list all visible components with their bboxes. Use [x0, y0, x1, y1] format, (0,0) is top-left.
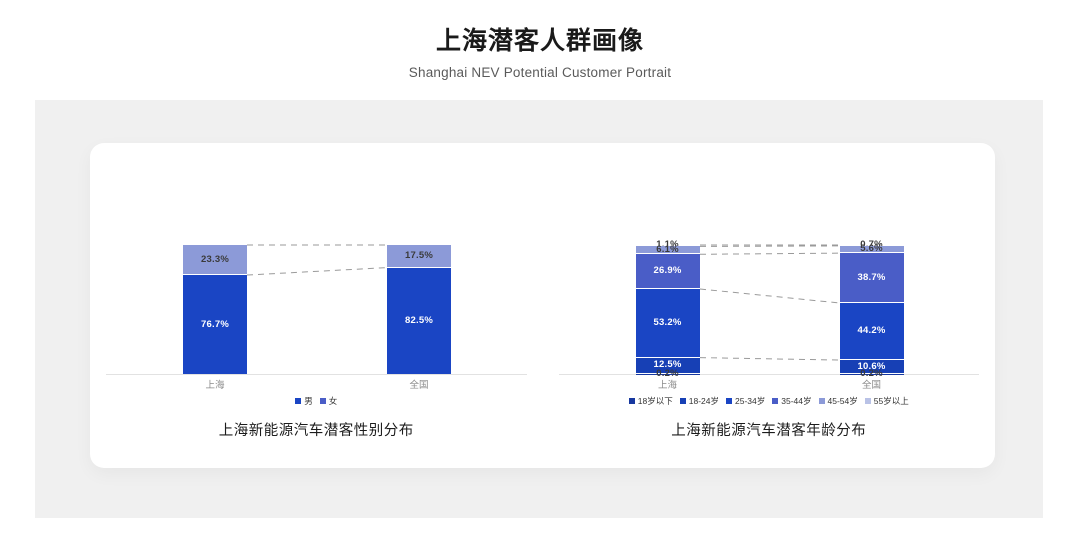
- charts-row: 上海全国23.3%76.7%17.5%82.5%男女上海新能源汽车潜客性别分布上…: [90, 143, 995, 468]
- legend-label: 18岁以下: [638, 395, 673, 407]
- segment-connectors: [90, 143, 543, 375]
- segment-connectors: [543, 143, 996, 375]
- plot-area-gender: 23.3%76.7%17.5%82.5%: [90, 143, 543, 375]
- category-label-上海: 上海: [183, 377, 247, 391]
- bar-age-全国[interactable]: 0.7%5.6%38.7%44.2%10.6%0.2%: [840, 245, 904, 374]
- bar-segment[interactable]: 5.6%: [840, 246, 904, 253]
- legend-label: 女: [329, 395, 338, 407]
- bar-segment-label: 82.5%: [405, 316, 433, 326]
- chart-age: 上海全国1.1%6.1%26.9%53.2%12.5%0.2%0.7%5.6%3…: [543, 143, 996, 468]
- chart-caption-gender: 上海新能源汽车潜客性别分布: [90, 419, 543, 440]
- bar-segment-label: 53.2%: [654, 318, 682, 328]
- chart-caption-age: 上海新能源汽车潜客年龄分布: [543, 419, 996, 440]
- chart-gender: 上海全国23.3%76.7%17.5%82.5%男女上海新能源汽车潜客性别分布: [90, 143, 543, 468]
- category-label-全国: 全国: [387, 377, 451, 391]
- legend-swatch-icon: [726, 398, 732, 404]
- category-label-上海: 上海: [636, 377, 700, 391]
- bar-segment[interactable]: 44.2%: [840, 303, 904, 360]
- bar-segment[interactable]: 17.5%: [387, 245, 451, 268]
- bar-segment-label: 44.2%: [858, 326, 886, 336]
- legend-item[interactable]: 18-24岁: [680, 395, 719, 407]
- bar-segment-label: 17.5%: [405, 251, 433, 261]
- plot-area-age: 1.1%6.1%26.9%53.2%12.5%0.2%0.7%5.6%38.7%…: [543, 143, 996, 375]
- legend-item[interactable]: 45-54岁: [819, 395, 858, 407]
- legend-swatch-icon: [819, 398, 825, 404]
- bar-segment-label: 23.3%: [201, 255, 229, 265]
- legend-item[interactable]: 男: [295, 395, 313, 407]
- bar-segment-label: 76.7%: [201, 320, 229, 330]
- page-root: 上海潜客人群画像 Shanghai NEV Potential Customer…: [0, 0, 1080, 547]
- legend-label: 25-34岁: [735, 395, 765, 407]
- legend-label: 45-54岁: [828, 395, 858, 407]
- bar-segment[interactable]: 23.3%: [183, 245, 247, 275]
- page-title: 上海潜客人群画像: [0, 0, 1080, 57]
- x-axis-line: [106, 374, 527, 375]
- page-subtitle: Shanghai NEV Potential Customer Portrait: [0, 57, 1080, 80]
- legend-swatch-icon: [772, 398, 778, 404]
- legend-label: 55岁以上: [874, 395, 909, 407]
- legend-item[interactable]: 35-44岁: [772, 395, 811, 407]
- legend-label: 男: [304, 395, 313, 407]
- bar-segment-label: 38.7%: [858, 273, 886, 283]
- bar-segment[interactable]: 6.1%: [636, 246, 700, 254]
- charts-card: 上海全国23.3%76.7%17.5%82.5%男女上海新能源汽车潜客性别分布上…: [90, 143, 995, 468]
- bar-segment[interactable]: 76.7%: [183, 275, 247, 374]
- legend-swatch-icon: [320, 398, 326, 404]
- bar-segment[interactable]: 38.7%: [840, 253, 904, 303]
- legend-swatch-icon: [295, 398, 301, 404]
- page-header: 上海潜客人群画像 Shanghai NEV Potential Customer…: [0, 0, 1080, 80]
- legend-label: 35-44岁: [781, 395, 811, 407]
- legend-swatch-icon: [865, 398, 871, 404]
- x-axis-line: [559, 374, 980, 375]
- legend-item[interactable]: 18岁以下: [629, 395, 673, 407]
- bar-gender-全国[interactable]: 17.5%82.5%: [387, 245, 451, 374]
- legend-item[interactable]: 25-34岁: [726, 395, 765, 407]
- bar-gender-上海[interactable]: 23.3%76.7%: [183, 245, 247, 374]
- bar-segment-label: 6.1%: [656, 245, 678, 255]
- legend-item[interactable]: 女: [320, 395, 338, 407]
- legend-item[interactable]: 55岁以上: [865, 395, 909, 407]
- bar-segment-label: 0.2%: [656, 369, 678, 379]
- bar-segment[interactable]: 82.5%: [387, 268, 451, 374]
- legend-age: 18岁以下18-24岁25-34岁35-44岁45-54岁55岁以上: [543, 395, 996, 407]
- bar-segment-label: 26.9%: [654, 266, 682, 276]
- legend-swatch-icon: [629, 398, 635, 404]
- legend-label: 18-24岁: [689, 395, 719, 407]
- bar-segment-label: 0.2%: [860, 369, 882, 379]
- bar-segment[interactable]: 26.9%: [636, 254, 700, 289]
- legend-swatch-icon: [680, 398, 686, 404]
- bar-age-上海[interactable]: 1.1%6.1%26.9%53.2%12.5%0.2%: [636, 245, 700, 374]
- bar-segment[interactable]: 53.2%: [636, 289, 700, 358]
- legend-gender: 男女: [90, 395, 543, 407]
